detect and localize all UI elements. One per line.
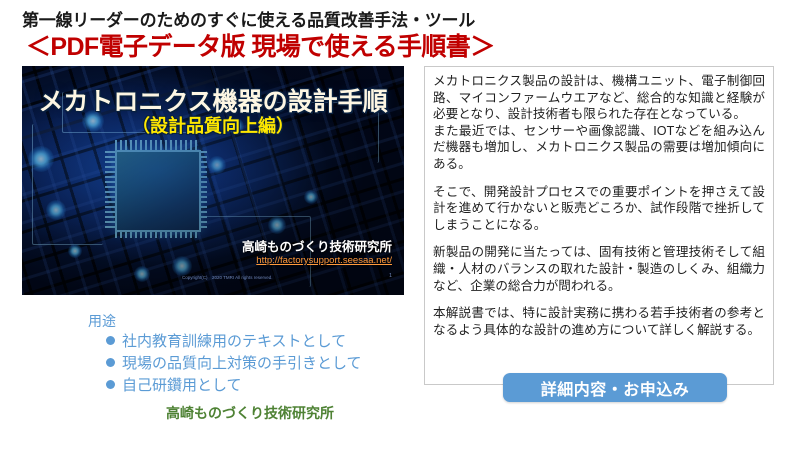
bullet-dot-icon bbox=[106, 380, 115, 389]
description-panel: メカトロニクス製品の設計は、機構ユニット、電子制御回路、マイコンファームウエアな… bbox=[424, 66, 774, 385]
usage-label: 用途 bbox=[88, 311, 116, 331]
bullet-dot-icon bbox=[106, 336, 115, 345]
cover-copyright: Copyright(C) 2020 TMRI All rights reserv… bbox=[182, 275, 272, 281]
description-paragraph: そこで、開発設計プロセスでの重要ポイントを押さえて設計を進めて行かないと販売どこ… bbox=[433, 184, 765, 234]
list-item: 自己研鑽用として bbox=[106, 375, 362, 397]
list-item-label: 現場の品質向上対策の手引きとして bbox=[122, 355, 362, 372]
list-item-label: 自己研鑽用として bbox=[122, 377, 242, 394]
promo-page: 第一線リーダーのためのすぐに使える品質改善手法・ツール ＜PDF電子データ版 現… bbox=[0, 0, 800, 450]
list-item: 社内教育訓練用のテキストとして bbox=[106, 331, 362, 353]
cover-organization: 高崎ものづくり技術研究所 bbox=[242, 236, 392, 255]
details-and-apply-button[interactable]: 詳細内容・お申込み bbox=[503, 373, 727, 402]
cover-page-number: 1 bbox=[389, 273, 392, 279]
description-paragraph: メカトロニクス製品の設計は、機構ユニット、電子制御回路、マイコンファームウエアな… bbox=[433, 73, 765, 123]
description-paragraph: 新製品の開発に当たっては、固有技術と管理技術そして組織・人材のバランスの取れた設… bbox=[433, 244, 765, 294]
book-cover-image: メカトロニクス機器の設計手順 （設計品質向上編） 高崎ものづくり技術研究所 ht… bbox=[22, 66, 404, 295]
bullet-dot-icon bbox=[106, 358, 115, 367]
description-paragraph: また最近では、センサーや画像認識、IOTなどを組み込んだ機器も増加し、メカトロニ… bbox=[433, 123, 765, 173]
header-title: ＜PDF電子データ版 現場で使える手順書＞ bbox=[26, 27, 786, 63]
cover-subtitle: （設計品質向上編） bbox=[22, 112, 404, 138]
list-item-label: 社内教育訓練用のテキストとして bbox=[122, 333, 346, 350]
cover-url-link[interactable]: http://factorysupport.seesaa.net/ bbox=[256, 255, 392, 266]
list-item: 現場の品質向上対策の手引きとして bbox=[106, 353, 362, 375]
description-paragraph: 本解説書では、特に設計実務に携わる若手技術者の参考となるよう具体的な設計の進め方… bbox=[433, 305, 765, 338]
footer-organization: 高崎ものづくり技術研究所 bbox=[0, 403, 500, 423]
usage-list: 社内教育訓練用のテキストとして 現場の品質向上対策の手引きとして 自己研鑽用とし… bbox=[106, 331, 362, 397]
